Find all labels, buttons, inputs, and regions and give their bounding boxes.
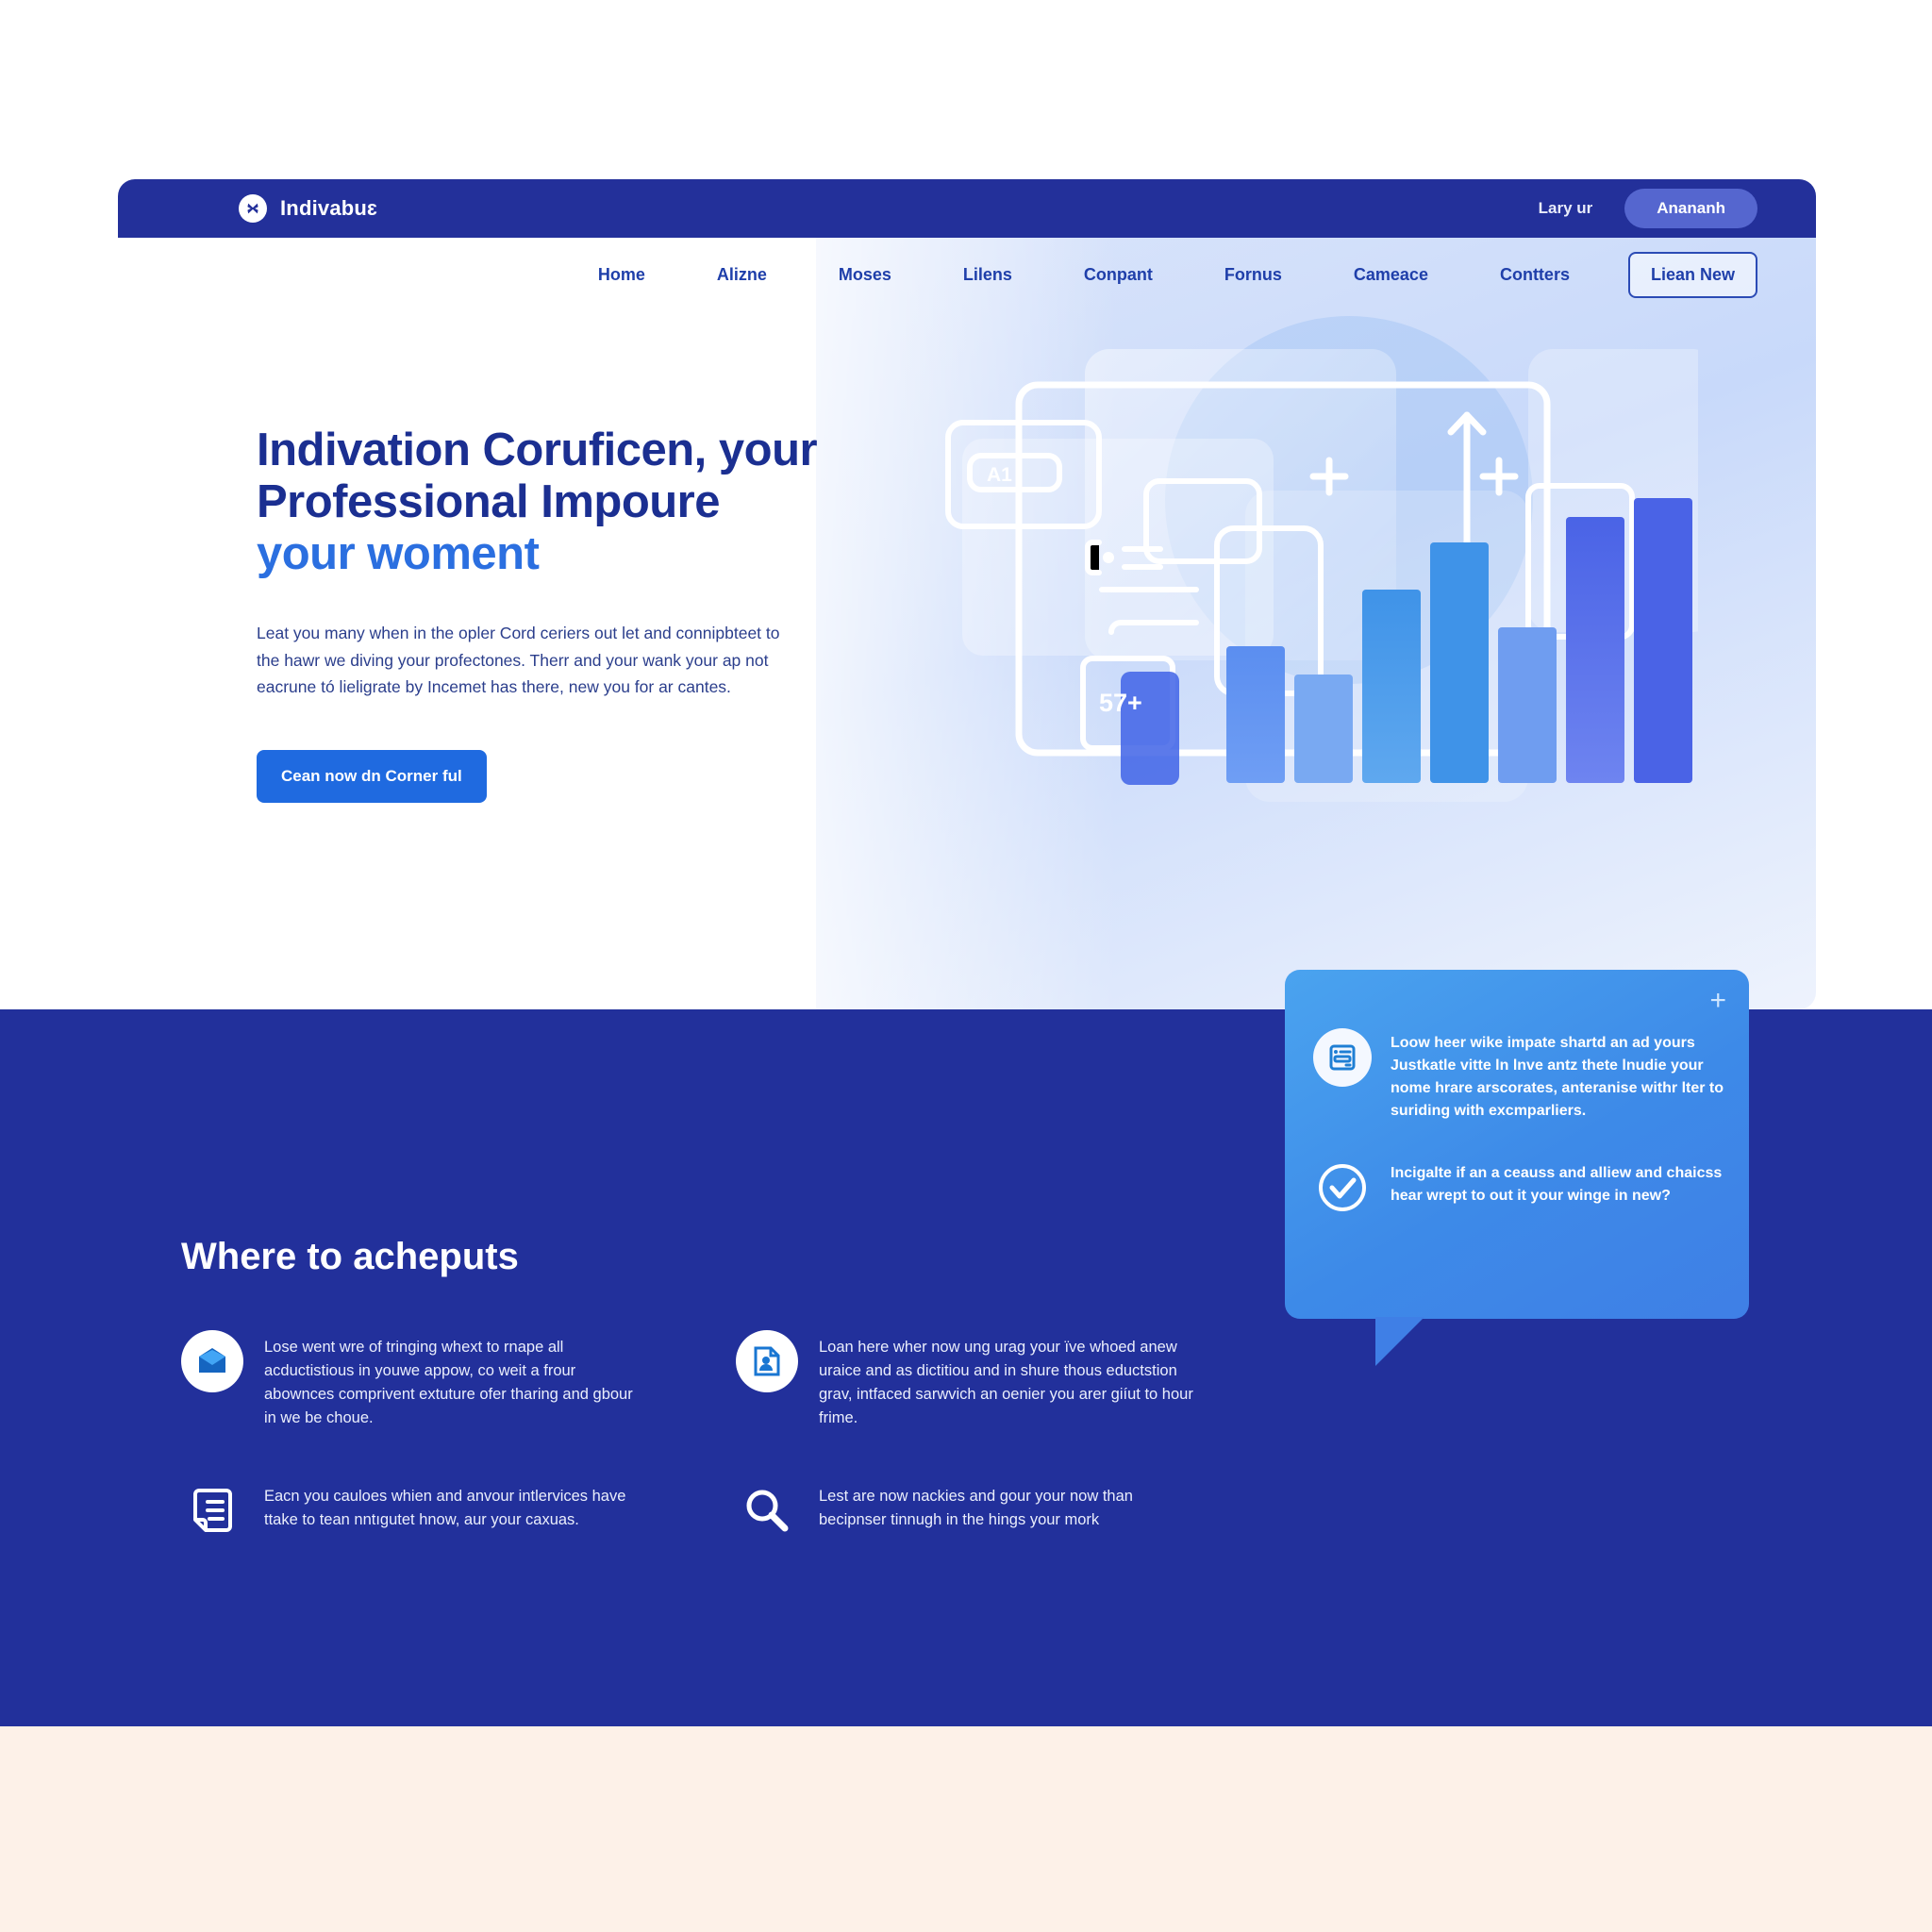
nav-item-conpant[interactable]: Conpant (1048, 265, 1189, 285)
nav-item-fornus[interactable]: Fornus (1189, 265, 1318, 285)
feature-text: Lose went wre of tringing whext to rnape… (264, 1330, 641, 1430)
document-lines-icon (181, 1479, 243, 1541)
chart-bar (1634, 498, 1692, 783)
top-bar-actions: Lary ur Anananh (1539, 189, 1757, 228)
chart-bar (1430, 542, 1489, 783)
nav-item-alizne[interactable]: Alizne (681, 265, 803, 285)
top-bar-pill-button[interactable]: Anananh (1624, 189, 1757, 228)
hero-headline-line2: Professional Impoure (257, 476, 720, 527)
top-bar-link[interactable]: Lary ur (1539, 199, 1593, 218)
main-navigation: Home Alizne Moses Lilens Conpant Fornus … (118, 238, 1816, 311)
feature-item: Eacn you cauloes whien and anvour intler… (181, 1479, 683, 1541)
document-person-icon (736, 1330, 798, 1392)
illustration-badge-label: 57+ (1099, 689, 1142, 717)
feature-item: Lest are now nackies and gour your now t… (736, 1479, 1238, 1541)
feature-text: Loan here wher now ung urag your ïve who… (819, 1330, 1196, 1430)
bubble-list-item: Loow heer wike impate shartd an ad yours… (1313, 1028, 1728, 1123)
card-document-icon (1313, 1028, 1372, 1087)
hero-headline: Indivation Coruficen, your Professional … (257, 425, 841, 580)
x-logo-icon (239, 194, 267, 223)
search-icon (736, 1479, 798, 1541)
chart-bar (1362, 590, 1421, 783)
bubble-text: Incigalte if an a ceauss and alliew and … (1391, 1158, 1728, 1217)
plus-icon: + (1709, 985, 1726, 1017)
hero-headline-accent: your woment (257, 528, 841, 580)
nav-cta-button[interactable]: Liean New (1628, 252, 1757, 298)
page-root: Indivabuɛ Lary ur Anananh Home Alizne Mo… (0, 0, 1932, 1932)
hero-content: Indivation Coruficen, your Professional … (257, 425, 841, 803)
hero-paragraph: Leat you many when in the opler Cord cer… (257, 620, 785, 702)
hero-illustration: A1 57+ (943, 311, 1698, 802)
illustration-chip-label: A1 (987, 464, 1012, 486)
feature-text: Lest are now nackies and gour your now t… (819, 1479, 1196, 1541)
brand-name: Indivabuɛ (280, 196, 377, 221)
nav-item-moses[interactable]: Moses (803, 265, 927, 285)
nav-item-cameace[interactable]: Cameace (1318, 265, 1464, 285)
feature-text: Eacn you cauloes whien and anvour intler… (264, 1479, 641, 1541)
feature-item: Lose went wre of tringing whext to rnape… (181, 1330, 683, 1430)
nav-item-home[interactable]: Home (562, 265, 681, 285)
features-title: Where to acheputs (181, 1236, 519, 1278)
nav-item-contters[interactable]: Contters (1464, 265, 1606, 285)
bubble-tail (1375, 1317, 1424, 1366)
bubble-items: Loow heer wike impate shartd an ad yours… (1313, 1028, 1728, 1217)
footer-strip (0, 1726, 1932, 1932)
bubble-list-item: Incigalte if an a ceauss and alliew and … (1313, 1158, 1728, 1217)
chart-bar (1566, 517, 1624, 783)
chart-bar (1294, 675, 1353, 783)
check-circle-icon (1313, 1158, 1372, 1217)
top-bar: Indivabuɛ Lary ur Anananh (118, 179, 1816, 238)
feature-item: Loan here wher now ung urag your ïve who… (736, 1330, 1238, 1430)
brand[interactable]: Indivabuɛ (239, 194, 377, 223)
bubble-text: Loow heer wike impate shartd an ad yours… (1391, 1028, 1728, 1123)
chart-bar (1226, 646, 1285, 783)
hero-headline-line1: Indivation Coruficen, your (257, 425, 817, 475)
nav-item-lilens[interactable]: Lilens (927, 265, 1048, 285)
hero-cta-button[interactable]: Cean now dn Corner ful (257, 750, 487, 803)
nav-items: Home Alizne Moses Lilens Conpant Fornus … (562, 265, 1606, 285)
envelope-icon (181, 1330, 243, 1392)
chart-bar (1498, 627, 1557, 783)
features-grid: Lose went wre of tringing whext to rnape… (181, 1330, 1238, 1541)
